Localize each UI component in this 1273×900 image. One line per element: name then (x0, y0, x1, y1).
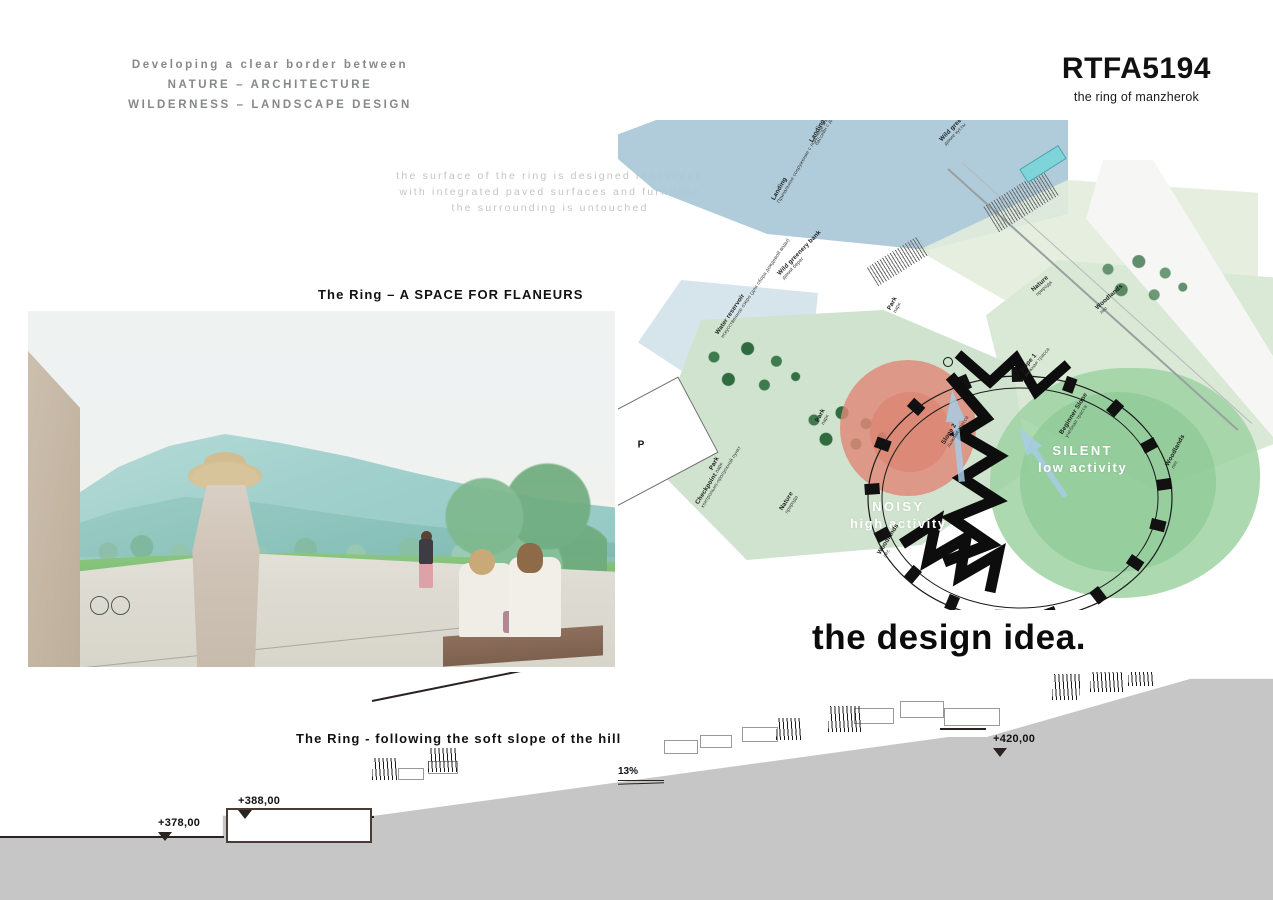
level-388-value: +388,00 (238, 795, 280, 807)
section-structure-1 (398, 768, 424, 780)
section-vegetation-3 (776, 718, 802, 740)
board-tagline: Developing a clear border between NATURE… (0, 55, 540, 115)
render-skater-torso (419, 539, 433, 565)
render-caption: The Ring – A SPACE FOR FLANEURS (318, 287, 583, 302)
design-idea-title: the design idea. (812, 618, 1086, 658)
render-rollerblader (413, 531, 439, 593)
section-structure-7 (900, 701, 944, 718)
render-bike-wheel-front (111, 596, 130, 615)
ring-svg (840, 348, 1200, 610)
section-grade-line-upper (940, 728, 986, 730)
section-structure-3 (664, 740, 698, 754)
section-vegetation-4 (828, 706, 862, 732)
plan-label-park-top: Parkпарк (886, 296, 904, 314)
tagline-line-1: Developing a clear border between (0, 55, 540, 75)
section-slope-line (372, 672, 941, 702)
level-marker-378: +378,00 (158, 813, 200, 841)
project-identification: RTFA5194 the ring of manzherok (1062, 52, 1211, 106)
render-seated-head-2 (517, 543, 543, 573)
level-marker-420: +420,00 (993, 729, 1035, 757)
section-vegetation-1 (372, 758, 398, 780)
zone-silent-line1: SILENT (1038, 442, 1127, 459)
render-cyclist (90, 571, 130, 615)
section-vegetation-2 (428, 748, 458, 772)
zone-silent-line2: low activity (1038, 459, 1127, 476)
zone-label-silent: SILENT low activity (1038, 442, 1127, 476)
section-vegetation-5 (1052, 674, 1080, 700)
slope-bar-1 (618, 780, 664, 781)
project-code: RTFA5194 (1062, 52, 1211, 86)
render-figure-body (186, 485, 266, 667)
project-subtitle: the ring of manzherok (1062, 88, 1211, 106)
tagline-line-2: NATURE – ARCHITECTURE (0, 75, 540, 95)
render-seated-head-1 (469, 549, 495, 575)
plan-ring-structure (840, 348, 1200, 610)
level-marker-388: +388,00 (238, 791, 280, 819)
section-structure-4 (700, 735, 732, 748)
site-plan-diagram: P (618, 120, 1273, 610)
level-420-value: +420,00 (993, 733, 1035, 745)
perspective-render (28, 311, 615, 667)
section-vegetation-7 (1128, 672, 1154, 686)
level-388-triangle (238, 810, 252, 819)
level-378-triangle (158, 832, 172, 841)
section-slope-indicator: 13% (618, 766, 664, 784)
level-378-value: +378,00 (158, 817, 200, 829)
render-skater-legs (419, 564, 433, 588)
level-420-triangle (993, 748, 1007, 757)
section-vegetation-6 (1090, 672, 1124, 692)
presentation-board: Developing a clear border between NATURE… (0, 0, 1273, 900)
section-terrain-fill (0, 672, 1273, 900)
render-foreground-figure (178, 461, 274, 667)
slope-percent-value: 13% (618, 766, 664, 777)
parking-marker: P (638, 440, 645, 451)
zone-noisy-line1: NOISY (850, 498, 947, 515)
tagline-line-3: WILDERNESS – LANDSCAPE DESIGN (0, 95, 540, 115)
render-seated-group (455, 547, 587, 637)
render-bike-wheel-rear (90, 596, 109, 615)
section-structure-5 (742, 727, 778, 742)
plan-tree-cluster-1 (690, 336, 810, 406)
section-structure-8 (944, 708, 1000, 726)
site-section-drawing: 13% +378,00 +388,00 +420,00 (0, 672, 1273, 900)
